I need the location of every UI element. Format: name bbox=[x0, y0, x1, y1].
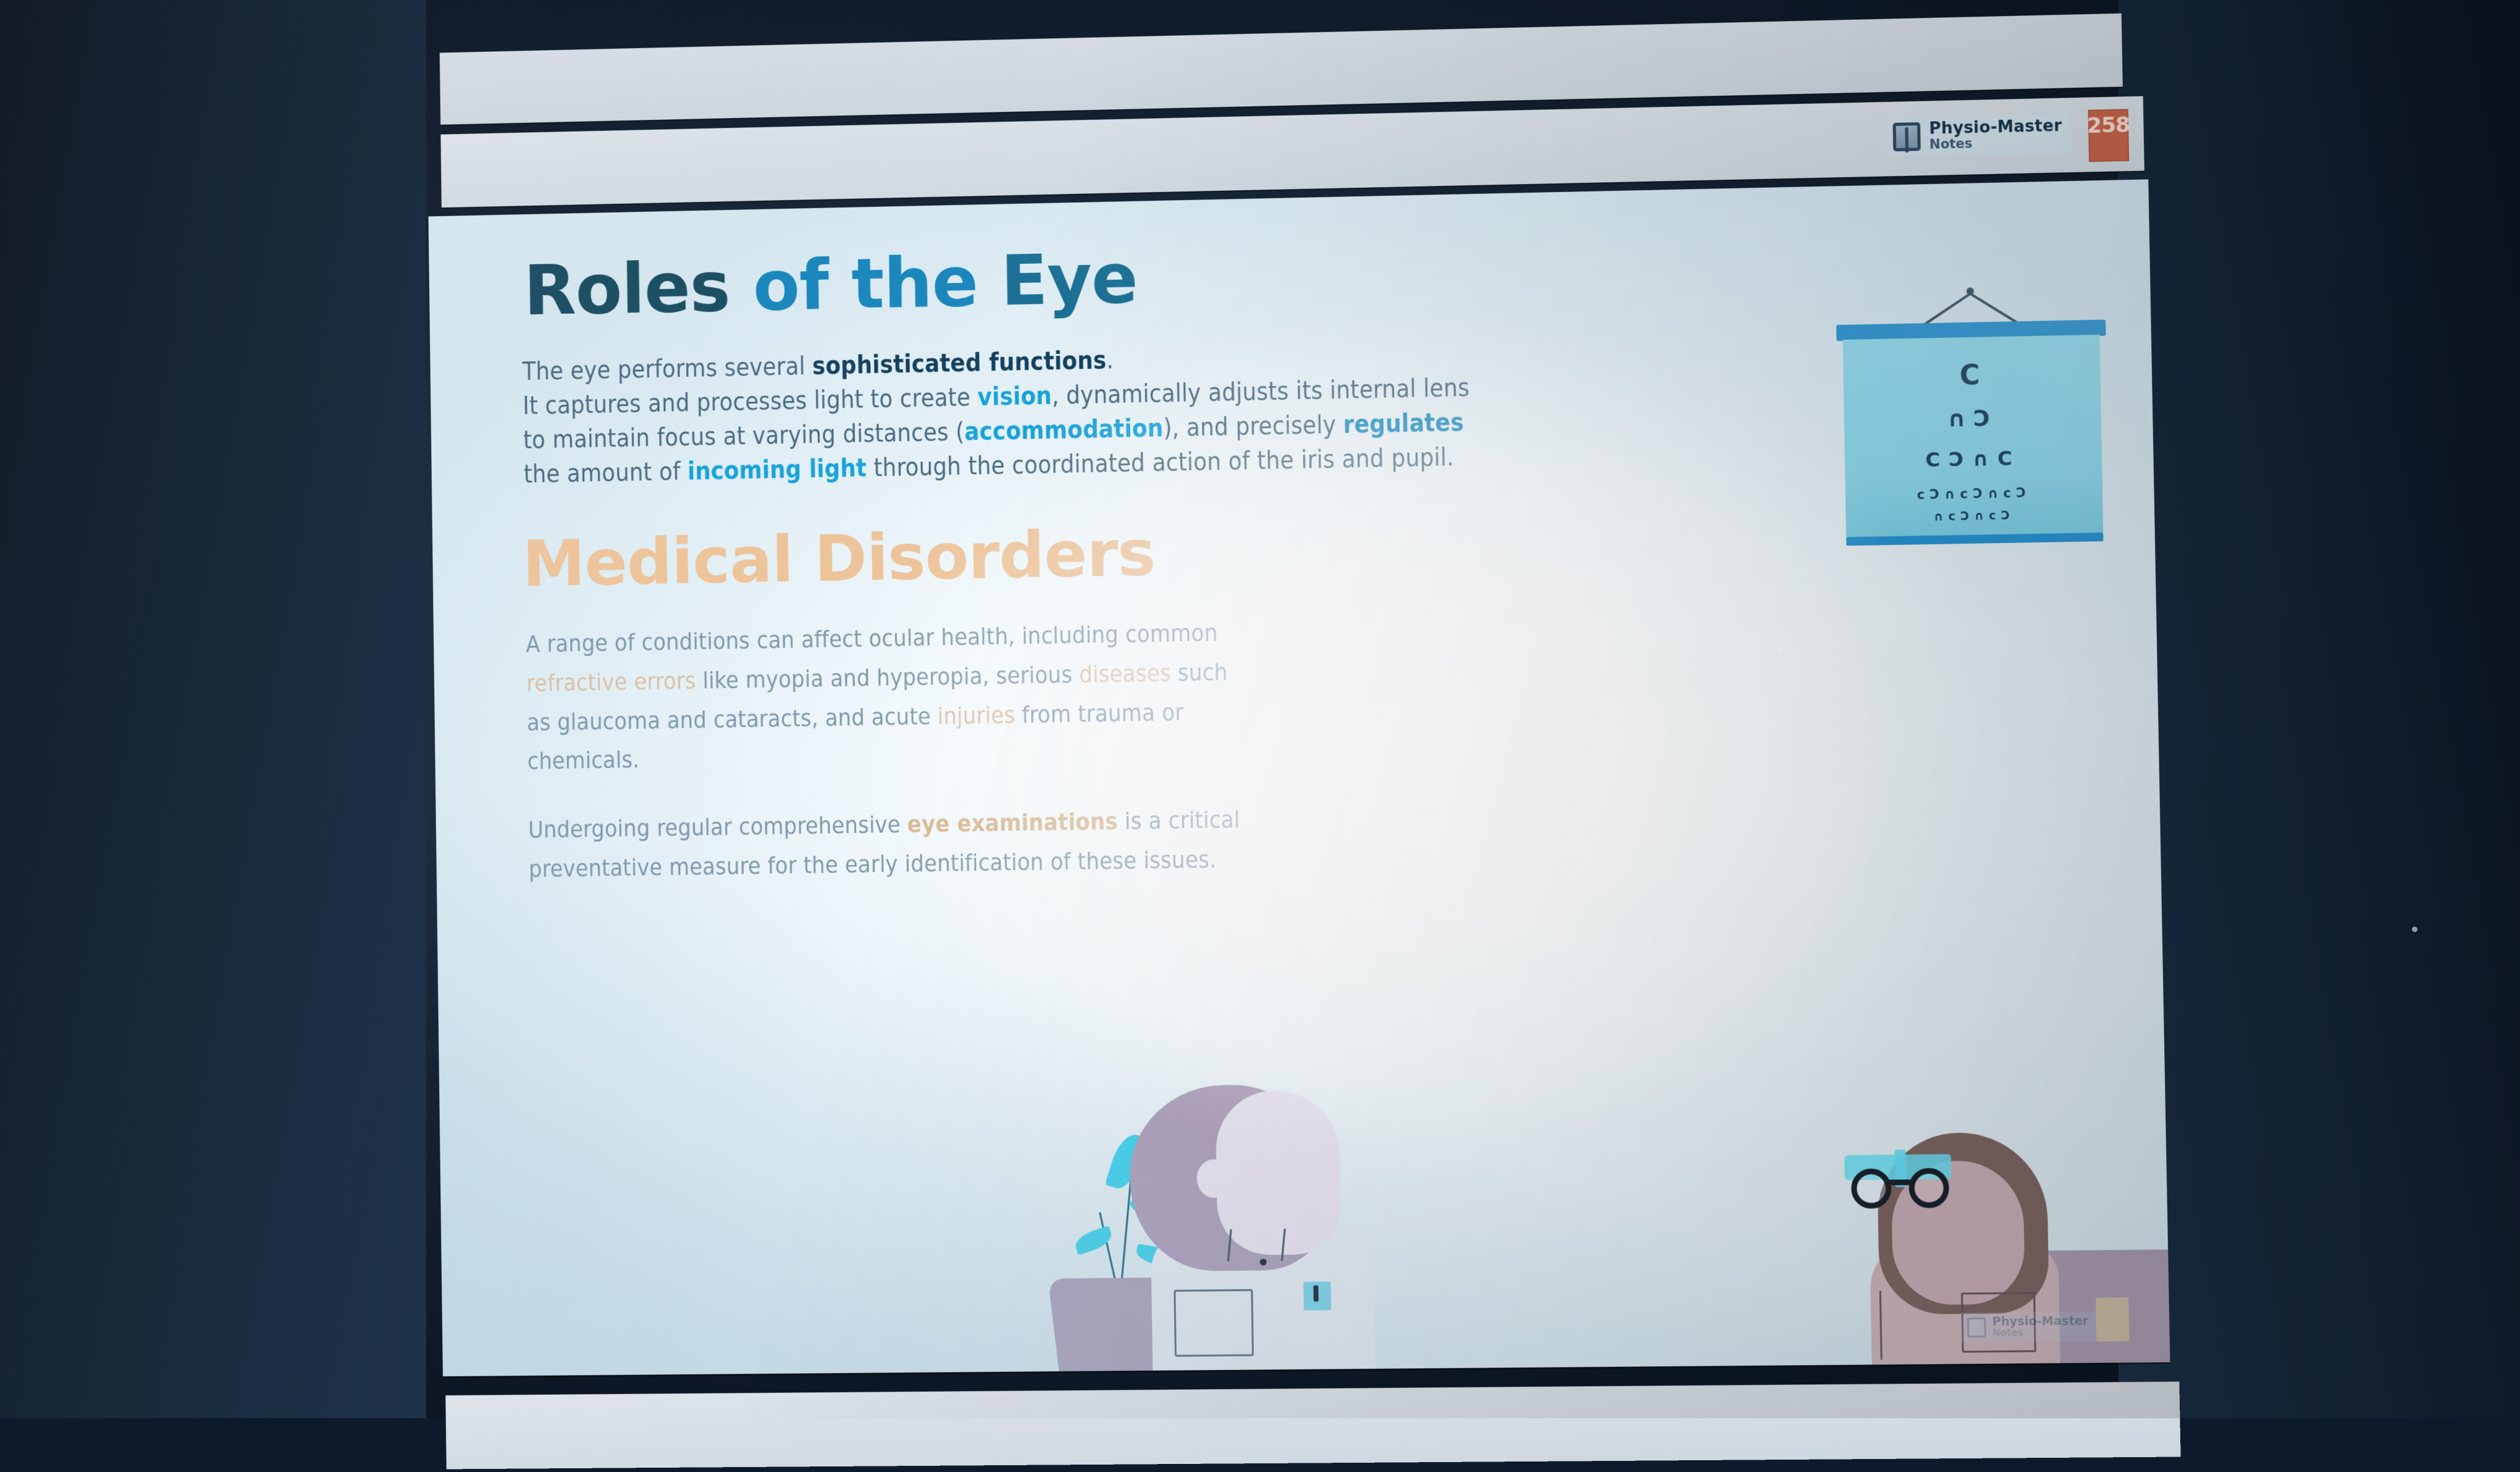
body-paragraph-2: Undergoing regular comprehensive eye exa… bbox=[528, 801, 1251, 890]
lead-1b-bold: sophisticated functions bbox=[812, 347, 1107, 381]
lead-3a: to maintain focus at varying distances ( bbox=[523, 418, 965, 455]
lead-3d-accent: regulates bbox=[1343, 408, 1464, 439]
body-1b-accent: refractive errors bbox=[526, 667, 696, 697]
doctor-button-icon bbox=[1260, 1259, 1267, 1266]
title-part-3: Eye bbox=[1001, 238, 1138, 321]
doctor-ear bbox=[1196, 1159, 1232, 1198]
lens-right bbox=[1909, 1168, 1949, 1208]
lead-4a: the amount of bbox=[524, 458, 688, 489]
chart-row-4: cƆ∩cƆ∩cƆ bbox=[1845, 466, 2102, 503]
lead-1c: . bbox=[1106, 346, 1114, 374]
lead-4c: through the coordinated action of the ir… bbox=[867, 443, 1454, 482]
lead-4b-accent: incoming light bbox=[687, 454, 867, 486]
trial-frames-icon bbox=[1850, 1163, 1976, 1209]
dust-speck bbox=[1779, 647, 1783, 651]
watermark-sub: Notes bbox=[1993, 1328, 2089, 1339]
watermark-name: Physio-Master bbox=[1992, 1316, 2088, 1329]
lead-3b-accent: accommodation bbox=[964, 414, 1164, 446]
lead-1a: The eye performs several bbox=[522, 352, 812, 386]
dust-speck bbox=[2412, 927, 2417, 932]
section-title: Medical Disorders bbox=[522, 521, 1156, 595]
count-badge[interactable]: 258 bbox=[2088, 109, 2130, 162]
body-1a: A range of conditions can affect ocular … bbox=[526, 619, 1218, 657]
brand-logo[interactable]: Physio-Master Notes bbox=[1886, 114, 2071, 157]
lead-paragraph: The eye performs several sophisticated f… bbox=[522, 327, 1954, 493]
doctor-pocket bbox=[1174, 1289, 1254, 1356]
brand-subtitle: Notes bbox=[1930, 135, 2062, 151]
body-1d-accent: diseases bbox=[1079, 659, 1171, 688]
title-part-1: Roles bbox=[523, 247, 730, 331]
body-2b-accent: eye examinations bbox=[907, 808, 1119, 838]
bottom-panel-strip bbox=[445, 1382, 2180, 1470]
body-paragraphs: A range of conditions can affect ocular … bbox=[526, 613, 1251, 889]
doctor-collar bbox=[1227, 1229, 1286, 1261]
watermark-book-icon bbox=[1967, 1318, 1986, 1338]
watermark-stripe bbox=[2096, 1297, 2129, 1341]
lead-2a: It captures and processes light to creat… bbox=[523, 383, 978, 420]
body-paragraph-1: A range of conditions can affect ocular … bbox=[526, 613, 1250, 781]
title-part-2: of the bbox=[729, 242, 1002, 327]
lead-2c: , dynamically adjusts its internal lens bbox=[1052, 374, 1470, 410]
presentation-slide: Roles of the Eye The eye performs severa… bbox=[429, 179, 2170, 1376]
brand-name: Physio-Master bbox=[1929, 118, 2062, 138]
body-2a: Undergoing regular comprehensive bbox=[528, 811, 907, 844]
frames-bridge bbox=[1889, 1179, 1914, 1185]
lead-3c: ), and precisely bbox=[1163, 411, 1343, 442]
body-1c: like myopia and hyperopia, serious bbox=[695, 661, 1079, 694]
book-icon bbox=[1892, 122, 1920, 151]
eye-chart: C ∩Ɔ CƆ∩C cƆ∩cƆ∩cƆ ∩cƆ∩cƆ bbox=[1836, 286, 2105, 292]
lens-left bbox=[1851, 1169, 1892, 1209]
watermark: Physio-Master Notes bbox=[1959, 1311, 2096, 1342]
chart-row-5: ∩cƆ∩cƆ bbox=[1846, 498, 2103, 525]
page-title: Roles of the Eye bbox=[523, 244, 1138, 326]
lead-2b-accent: vision bbox=[977, 382, 1052, 411]
screen-surface: Physio-Master Notes 258 Roles of the Eye… bbox=[11, 0, 2520, 1429]
photo-backdrop: Physio-Master Notes 258 Roles of the Eye… bbox=[0, 0, 2520, 1418]
doctor-id-badge bbox=[1303, 1282, 1331, 1311]
illustration bbox=[438, 974, 2170, 1376]
chart-string bbox=[1920, 292, 2021, 326]
body-1f-accent: injuries bbox=[938, 701, 1015, 730]
